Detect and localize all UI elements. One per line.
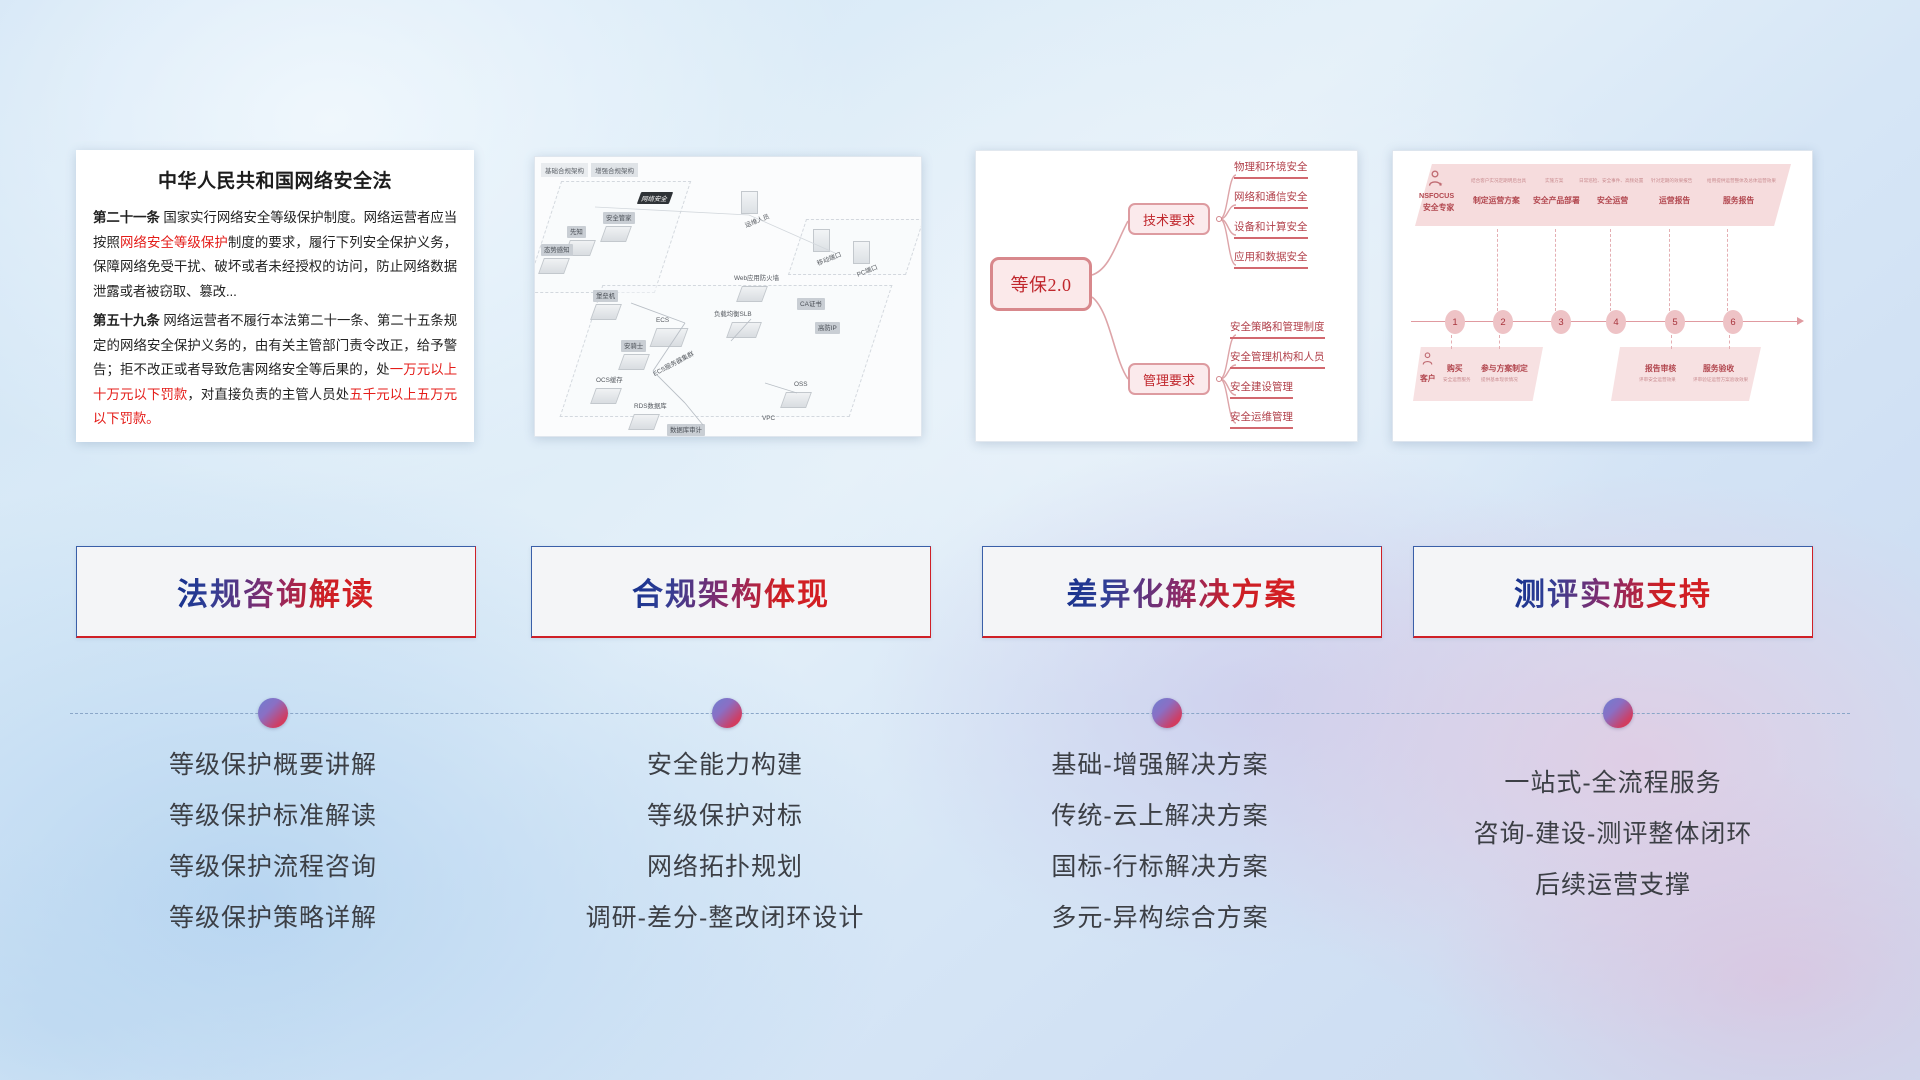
section-title-box-1[interactable]: 合规架构体现: [531, 546, 931, 638]
arch-tab-basic[interactable]: 基础合规架构: [541, 163, 588, 177]
bottom-step2-sub: 提供基本现状情况: [1481, 377, 1518, 383]
card-nsfocus-timeline[interactable]: NSFOCUS 安全专家 结合客户实况定期明后台具 制定运营方案 实施方案 安全…: [1392, 150, 1813, 442]
mindmap-leaf-ops-mgmt: 安全运维管理: [1230, 411, 1293, 429]
arch-node-waf: Web应用防火墙: [731, 267, 782, 302]
mindmap-root[interactable]: 等保2.0: [990, 257, 1092, 311]
timeline-arrow-icon: [1797, 317, 1804, 325]
list-item: 等级保护对标: [495, 791, 955, 842]
bottom-step6-title: 服务验收: [1703, 363, 1734, 374]
list-item: 后续运营支撑: [1383, 860, 1843, 911]
section-title-label-3: 测评实施支持: [1514, 569, 1712, 614]
architecture-diagram: 基础合规架构 增强合规架构 网络安全 安全管家 先知 态势感知 堡垒机 ECS: [535, 157, 921, 436]
arch-node-situational-awareness: 态势感知: [541, 239, 573, 274]
arch-node-ocs-cache: OCS缓存: [593, 369, 626, 404]
timeline-node-6[interactable]: 6: [1723, 310, 1743, 334]
list-item: 等级保护概要讲解: [43, 740, 503, 791]
list-item: 安全能力构建: [495, 740, 955, 791]
step6-sub: 给用提供运营整体及总体运营效果: [1707, 178, 1776, 184]
section-title-label-1: 合规架构体现: [632, 569, 830, 614]
timeline-dash-5-bottom: [1671, 335, 1672, 349]
step4-sub: 日常巡检、安全事件、高频处置: [1579, 178, 1643, 184]
timeline-node-5[interactable]: 5: [1665, 310, 1685, 334]
mindmap-leaf-org-personnel: 安全管理机构和人员: [1230, 351, 1325, 369]
arch-node-oss: OSS: [791, 373, 811, 408]
arch-node-mobile-endpoint: 移动端口: [813, 229, 845, 264]
timeline-node-2[interactable]: 2: [1493, 310, 1513, 334]
timeline-node-3[interactable]: 3: [1551, 310, 1571, 334]
mindmap-leaf-physical-env: 物理和环境安全: [1234, 161, 1308, 179]
timeline-dash-5-top: [1669, 229, 1670, 311]
timeline-marker-2[interactable]: [1152, 698, 1182, 728]
step4-title: 安全运营: [1597, 195, 1628, 206]
timeline-dash-2-top: [1497, 229, 1498, 311]
arch-node-anqishi: 安骑士: [621, 335, 647, 370]
arch-node-slb: 负载均衡SLB: [711, 303, 759, 338]
card-cloud-architecture[interactable]: 基础合规架构 增强合规架构 网络安全 安全管家 先知 态势感知 堡垒机 ECS: [534, 156, 922, 437]
section-title-label-0: 法规咨询解读: [177, 569, 375, 614]
timeline-dash-4-top: [1610, 229, 1611, 311]
mindmap-leaf-device-compute: 设备和计算安全: [1234, 221, 1308, 239]
section-items-3: 一站式-全流程服务 咨询-建设-测评整体闭环 后续运营支撑: [1383, 758, 1843, 911]
bottom-step1-title: 购买: [1447, 363, 1463, 374]
timeline-dash-3-top: [1555, 229, 1556, 311]
section-items-2: 基础-增强解决方案 传统-云上解决方案 国标-行标解决方案 多元-异构综合方案: [930, 740, 1390, 944]
step2-sub: 结合客户实况定期明后台具: [1471, 178, 1526, 184]
expert-label-line2: 安全专家: [1423, 202, 1454, 213]
list-item: 网络拓扑规划: [495, 842, 955, 893]
step2-title: 制定运营方案: [1473, 195, 1520, 206]
customer-label: 客户: [1420, 373, 1436, 384]
expert-person-icon: [1425, 169, 1445, 189]
section-items-1: 安全能力构建 等级保护对标 网络拓扑规划 调研-差分-整改闭环设计: [495, 740, 955, 944]
arch-node-ops-staff: 运维人员: [741, 191, 773, 226]
law-article-59-text-b: ，对直接负责的主管人员处: [187, 387, 349, 402]
list-item: 等级保护标准解读: [43, 791, 503, 842]
mindmap-leaf-construction-mgmt: 安全建设管理: [1230, 381, 1293, 399]
bottom-step2-title: 参与方案制定: [1481, 363, 1528, 374]
list-item: 咨询-建设-测评整体闭环: [1383, 809, 1843, 860]
arch-node-database-audit: 数据库审计: [667, 419, 705, 437]
section-title-box-2[interactable]: 差异化解决方案: [982, 546, 1382, 638]
mindmap-branch-technical[interactable]: 技术要求: [1128, 203, 1210, 235]
list-item: 等级保护流程咨询: [43, 842, 503, 893]
list-item: 国标-行标解决方案: [930, 842, 1390, 893]
law-article-21: 第二十一条 国家实行网络安全等级保护制度。网络运营者应当按照网络安全等级保护制度…: [93, 206, 457, 304]
mindmap-collapse-dot-technical[interactable]: [1216, 216, 1222, 222]
card-cybersecurity-law[interactable]: 中华人民共和国网络安全法 第二十一条 国家实行网络安全等级保护制度。网络运营者应…: [76, 150, 474, 442]
mindmap-collapse-dot-management[interactable]: [1216, 376, 1222, 382]
arch-node-security-butler: 安全管家: [603, 207, 635, 242]
bottom-step5-sub: 评审安全运营效果: [1639, 377, 1676, 383]
progress-timeline: [0, 694, 1920, 734]
timeline-marker-1[interactable]: [712, 698, 742, 728]
timeline-dash-2-bottom: [1499, 335, 1500, 349]
step5-title: 运营报告: [1659, 195, 1690, 206]
section-details-row: 等级保护概要讲解 等级保护标准解读 等级保护流程咨询 等级保护策略详解 安全能力…: [0, 740, 1920, 960]
arch-node-bastion-host: 堡垒机: [593, 285, 619, 320]
list-item: 多元-异构综合方案: [930, 893, 1390, 944]
section-title-label-2: 差异化解决方案: [1067, 569, 1298, 614]
arch-node-network-security: 网络安全: [639, 187, 671, 205]
law-article-59-label: 第五十九条: [93, 313, 160, 328]
bottom-step1-sub: 安全运营服务: [1443, 377, 1471, 383]
customer-person-icon: [1419, 351, 1436, 368]
arch-node-rds-database: RDS数据库: [631, 395, 670, 430]
mindmap-diagram: 等保2.0 技术要求 物理和环境安全 网络和通信安全 设备和计算安全 应用和数据…: [976, 151, 1357, 441]
preview-cards-row: 中华人民共和国网络安全法 第二十一条 国家实行网络安全等级保护制度。网络运营者应…: [0, 150, 1920, 450]
law-article-21-highlight: 网络安全等级保护: [120, 235, 228, 250]
list-item: 一站式-全流程服务: [1383, 758, 1843, 809]
arch-tab-enhanced[interactable]: 增强合规架构: [591, 163, 638, 177]
arch-node-ecs: ECS: [653, 309, 685, 347]
timeline-dash-6-top: [1727, 229, 1728, 311]
timeline-banner-customer-right: [1611, 347, 1761, 401]
step3-sub: 实施方案: [1545, 178, 1563, 184]
section-title-box-0[interactable]: 法规咨询解读: [76, 546, 476, 638]
section-title-box-3[interactable]: 测评实施支持: [1413, 546, 1813, 638]
card-dengbao-mindmap[interactable]: 等保2.0 技术要求 物理和环境安全 网络和通信安全 设备和计算安全 应用和数据…: [975, 150, 1358, 442]
list-item: 传统-云上解决方案: [930, 791, 1390, 842]
bottom-step5-title: 报告审核: [1645, 363, 1676, 374]
mindmap-leaf-app-data: 应用和数据安全: [1234, 251, 1308, 269]
bottom-step6-sub: 评审验证运营方案验收效果: [1693, 377, 1748, 383]
arch-node-anti-ddos-ip: 高防IP: [815, 317, 840, 335]
mindmap-leaf-policy-system: 安全策略和管理制度: [1230, 321, 1325, 339]
law-article-21-label: 第二十一条: [93, 210, 160, 225]
expert-label-line1: NSFOCUS: [1419, 191, 1454, 200]
step6-title: 服务报告: [1723, 195, 1754, 206]
timeline-dash-1-bottom: [1451, 335, 1452, 349]
timeline-rail: [70, 713, 1850, 714]
timeline-node-4[interactable]: 4: [1606, 310, 1626, 334]
mindmap-leaf-network-comm: 网络和通信安全: [1234, 191, 1308, 209]
section-items-0: 等级保护概要讲解 等级保护标准解读 等级保护流程咨询 等级保护策略详解: [43, 740, 503, 944]
step5-sub: 针对定期的效果报告: [1651, 178, 1692, 184]
law-article-59: 第五十九条 网络运营者不履行本法第二十一条、第二十五条规定的网络安全保护义务的，…: [93, 309, 457, 432]
arch-node-ca-certificate: CA证书: [797, 293, 825, 311]
step3-title: 安全产品部署: [1533, 195, 1580, 206]
service-timeline-diagram: NSFOCUS 安全专家 结合客户实况定期明后台具 制定运营方案 实施方案 安全…: [1393, 151, 1812, 441]
timeline-dash-6-bottom: [1729, 335, 1730, 349]
timeline-node-1[interactable]: 1: [1445, 310, 1465, 334]
list-item: 调研-差分-整改闭环设计: [495, 893, 955, 944]
arch-node-vpc: VPC: [759, 407, 778, 425]
list-item: 基础-增强解决方案: [930, 740, 1390, 791]
section-titles-row: 法规咨询解读 合规架构体现 差异化解决方案 测评实施支持: [0, 546, 1920, 642]
timeline-marker-0[interactable]: [258, 698, 288, 728]
law-title: 中华人民共和国网络安全法: [93, 166, 457, 193]
timeline-marker-3[interactable]: [1603, 698, 1633, 728]
mindmap-branch-management[interactable]: 管理要求: [1128, 363, 1210, 395]
arch-node-pc-endpoint: PC端口: [853, 241, 881, 276]
list-item: 等级保护策略详解: [43, 893, 503, 944]
